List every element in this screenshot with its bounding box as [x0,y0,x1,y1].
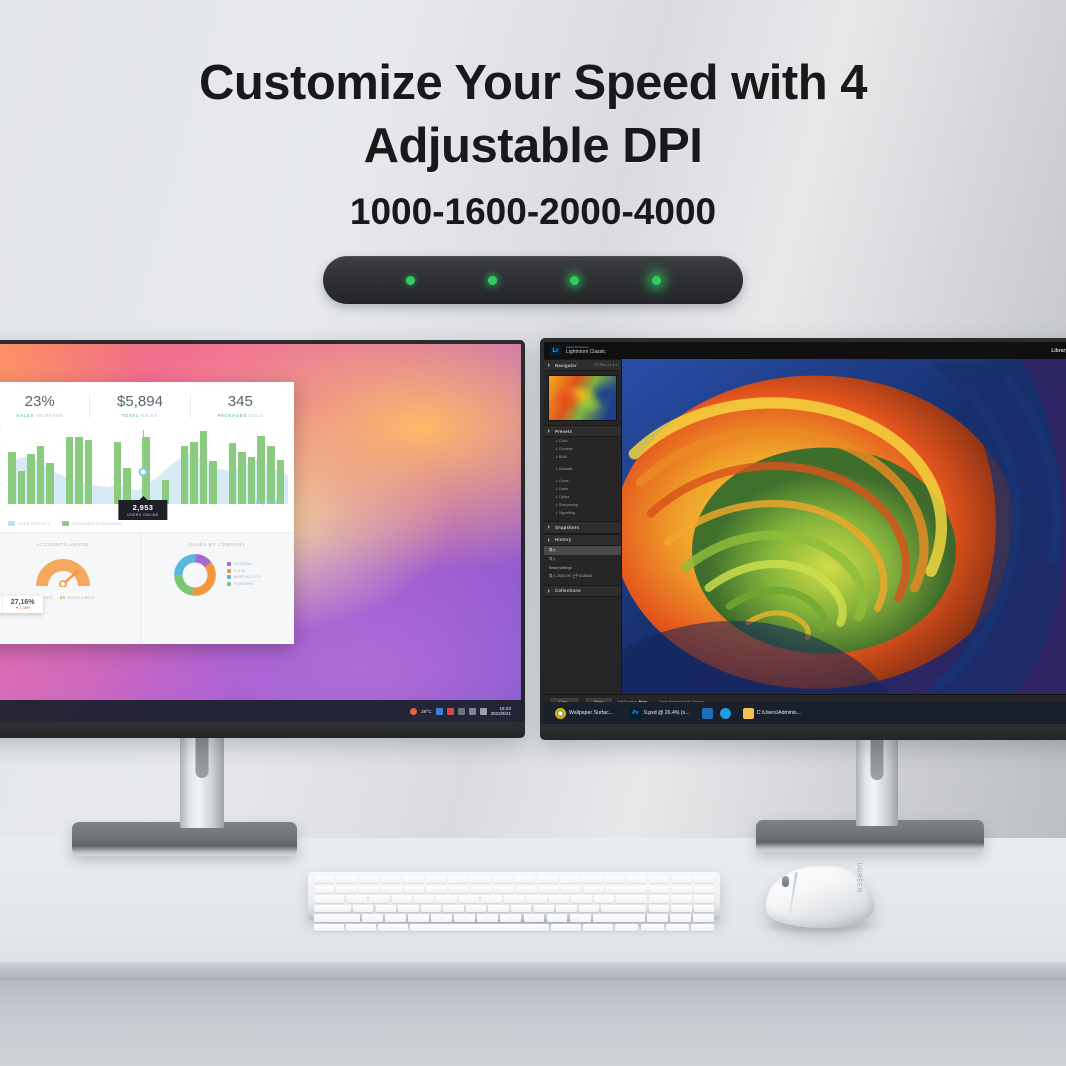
keyboard-key[interactable] [571,895,591,902]
taskbar-item-chrome[interactable]: Wallpaper Surfac... [550,706,618,721]
legend-swatch [8,521,15,526]
keyboard-key[interactable] [601,905,646,912]
keyboard-key[interactable] [426,876,446,883]
chart-bar [238,452,246,504]
tray-icon[interactable] [447,708,454,715]
history-row[interactable]: Reset Settings [544,564,621,572]
keyboard-row [314,924,714,931]
navigator-title: Navigator [555,363,577,368]
navigator-thumbnail[interactable] [548,375,617,421]
keyboard-key[interactable] [524,914,545,921]
keyboard-key[interactable] [353,905,373,912]
weather-icon [410,708,417,715]
taskbar-clock[interactable]: 16:33 2022/9/21 [491,706,511,717]
chart-bar [27,454,35,504]
history-panel-header[interactable]: History [544,534,621,546]
keyboard-key[interactable] [672,876,692,883]
lightroom-photo-canvas[interactable] [622,359,1066,694]
presets-title: Presets [555,429,572,434]
kpi-label: SALES INCREASE [0,413,89,418]
keyboard-key[interactable] [477,914,498,921]
keyboard-key[interactable] [694,876,714,883]
accounts-usage-gauge [32,555,94,587]
legend-item: SHOGUN [227,562,262,566]
keyboard-key[interactable] [547,914,568,921]
chart-bar [248,457,256,504]
tooltip-label: USERS ONLINE [127,513,158,517]
vertical-ergonomic-mouse[interactable]: UGREEN [766,866,874,928]
dpi-led-1600 [488,276,497,285]
activity-chart: 50 40 30 20 10 July 2013 [2,428,284,520]
keyboard-key[interactable] [362,914,383,921]
dashboard-window[interactable]: ⌂ ♟ ⏻ DASHBOARD ACCOUNTS COMPANIES ACCOU… [0,382,294,644]
keyboard-key[interactable] [431,914,452,921]
keyboard-key[interactable] [404,886,424,893]
keyboard-key[interactable] [459,895,479,902]
chart-bar [66,437,74,504]
keyboard-key[interactable] [347,895,367,902]
dpi-led-2000 [570,276,579,285]
taskbar-item-photoshop[interactable]: Ps 9.psd @ 26.4% (s... [625,706,695,721]
keyboard-key[interactable] [604,876,624,883]
chevron-right-icon [548,429,552,433]
keyboard-key[interactable] [649,905,669,912]
kpi-value: 23% [0,394,89,409]
legend-item: FORWARD [227,582,262,586]
keyboard-key[interactable] [606,886,647,893]
accounts-usage-panel: ACCOUNTS USAGE 30 USED 20 AVA [0,533,140,644]
keyboard-key[interactable] [560,876,580,883]
keyboard-key[interactable] [694,886,714,893]
kpi-label: TOTAL SALES [90,413,189,418]
kpi-value: $5,894 [90,394,189,409]
app-title-label: Lightroom Classic [566,349,606,355]
lightroom-icon[interactable] [702,708,713,719]
y-tick: 40 [0,446,1,450]
stat-down-value: 27,16% [11,599,35,606]
keyboard-key[interactable] [392,895,412,902]
keyboard-key[interactable] [691,924,714,931]
chart-bar [200,431,208,504]
headline-line-1: Customize Your Speed with 4 [0,52,1066,115]
chart-bar [46,463,54,504]
keyboard-key[interactable] [516,886,536,893]
keyboard-key[interactable] [671,905,691,912]
module-picker[interactable]: Library | De [1051,348,1066,354]
lightroom-logo-icon: Lr [550,345,561,356]
keyboard-key[interactable] [583,924,613,931]
sales-by-company-title: SALES BY COMPANY [145,542,291,547]
keyboard-row [314,876,714,883]
chart-marker-dot[interactable] [139,468,148,477]
chart-bar [229,443,237,504]
monitor-left: Dashboard February March April [0,340,525,738]
photoshop-icon: Ps [630,708,641,719]
keyboard-key[interactable] [584,886,604,893]
dpi-subheadline: 1000-1600-2000-4000 [0,191,1066,233]
keyboard-row [314,914,714,921]
legend-swatch [227,582,231,586]
keyboard-key[interactable] [694,905,714,912]
chart-legend: USER ACTIVITY PACKAGES PURCHASED [0,520,294,532]
folder-icon [743,708,754,719]
keyboard-key[interactable] [615,924,638,931]
preset-group[interactable]: Grain [544,485,621,493]
keyboard-key[interactable] [314,905,351,912]
keyboard-key[interactable] [466,905,486,912]
keyboard-row [314,886,714,893]
keyboard-key[interactable] [647,914,668,921]
lightroom-titlebar: Lr Adobe Photoshop Lightroom Classic Lib… [544,342,1066,359]
kpi-total-sales: $5,894 TOTAL SALES [90,394,190,418]
y-tick: 20 [0,482,1,486]
kpi-sales-increase: 23% SALES INCREASE [0,394,90,418]
keyboard-key[interactable] [314,924,344,931]
headline-line-2: Adjustable DPI [0,115,1066,178]
stat-chips: 72,84% ▲ 3,55% 27,16% ▼ 1,38% [0,596,43,613]
taskbar-item-label: Wallpaper Surfac... [569,710,613,716]
y-tick: 10 [0,500,1,504]
volume-icon[interactable] [480,708,487,715]
edge-icon[interactable] [720,708,731,719]
donut-chart [173,553,217,597]
keyboard-key[interactable] [488,905,508,912]
keyboard-key[interactable] [671,886,691,893]
chart-tooltip: 2,953 USERS ONLINE [118,500,167,520]
monitor-left-bezel: Dashboard February March April [0,340,525,738]
collections-title: Collections [555,588,581,593]
legend-swatch [62,521,69,526]
legend-swatch [227,575,231,579]
keyboard-key[interactable] [627,876,647,883]
taskbar-item-explorer[interactable]: C:\Users\Adminis... [738,706,806,721]
taskbar-left-monitor[interactable]: C:\Users\Adminis... 29°C 16:33 2022/9/21 [0,700,521,722]
history-row[interactable]: 导入 2021/7/5 上午10:28:02 [544,572,621,581]
keyboard-key[interactable] [421,905,441,912]
chevron-right-icon [548,538,552,542]
keyboard-key[interactable] [556,905,576,912]
keyboard-key[interactable] [579,905,599,912]
history-row[interactable]: 导入 [544,555,621,564]
keyboard-key[interactable] [443,905,463,912]
keyboard-key[interactable] [594,895,614,902]
keyboard-key[interactable] [314,886,334,893]
keyboard-key[interactable] [454,914,475,921]
preset-group[interactable]: B&W [544,453,621,461]
preset-group[interactable]: Optics [544,493,621,501]
chevron-right-icon [548,363,552,367]
taskbar-right-monitor[interactable]: Wallpaper Surfac... Ps 9.psd @ 26.4% (s.… [544,702,1066,724]
network-icon[interactable] [469,708,476,715]
preset-group[interactable]: Defaults [544,465,621,473]
lightroom-app: Lr Adobe Photoshop Lightroom Classic Lib… [544,342,1066,724]
legend-item-user-activity: USER ACTIVITY [8,521,50,526]
keyboard-key[interactable] [481,895,501,902]
tray-icon[interactable] [436,708,443,715]
keyboard-key[interactable] [534,905,554,912]
mouse-brand-label: UGREEN [855,863,861,893]
accounts-usage-title: ACCOUNTS USAGE [0,542,136,547]
dashboard-main: 23% SALES INCREASE $5,894 TOTAL SALES 34… [0,382,294,644]
chart-month-label: July 2013 [254,499,282,506]
keyboard-key[interactable] [470,876,490,883]
kpi-row: 23% SALES INCREASE $5,894 TOTAL SALES 34… [0,382,294,426]
donut-legend: SHOGUN H & M MARTIAL CITY FORWARD [227,562,262,588]
chart-bar [277,460,285,504]
keyboard-key[interactable] [616,895,646,902]
keyboard-key[interactable] [561,886,581,893]
keyboard-key[interactable] [369,895,389,902]
keyboard-key[interactable] [408,914,429,921]
legend-label: USER ACTIVITY [18,522,50,526]
lightroom-app-name: Adobe Photoshop Lightroom Classic [566,346,606,355]
chart-bar [37,446,45,504]
keyboard-key[interactable] [359,876,379,883]
chart-bar [85,440,93,504]
tray-icon[interactable] [458,708,465,715]
keyboard-key[interactable] [403,876,423,883]
chrome-icon [555,708,566,719]
keyboard-key[interactable] [494,886,514,893]
keyboard-key[interactable] [336,876,356,883]
legend-item: MARTIAL CITY [227,575,262,579]
y-tick: 30 [0,464,1,468]
dashboard-bottom-panels: ACCOUNTS USAGE 30 USED 20 AVA [0,532,294,644]
weather-temp: 29°C [421,709,431,714]
keyboard-key[interactable] [511,905,531,912]
keyboard-key[interactable] [426,886,446,893]
chart-bar [257,436,265,504]
keyboard-key[interactable] [448,876,468,883]
chart-bar [8,452,16,504]
dpi-led-1000 [406,276,415,285]
stat-down-delta: ▼ 1,38% [11,606,35,610]
legend-label: H & M [234,569,245,573]
keyboard-key[interactable] [537,876,557,883]
keyboard-key[interactable] [493,876,513,883]
mouse-scroll-wheel[interactable] [782,876,789,887]
keyboard-key[interactable] [582,876,602,883]
chart-bar [190,442,198,504]
sales-by-company-panel: SALES BY COMPANY SHOGUN [140,533,295,644]
keyboard-key[interactable] [378,924,408,931]
dpi-led-4000 [652,276,661,285]
keyboard-key[interactable] [410,924,548,931]
history-title: History [555,537,572,542]
tooltip-value: 2,953 [127,503,158,512]
desk-front-panel [0,980,1066,1066]
legend-item: H & M [227,569,262,573]
keyboard-key[interactable] [549,895,569,902]
presets-panel-header[interactable]: Presets [544,425,621,437]
chart-y-axis: 50 40 30 20 10 [0,428,1,504]
keyboard-key[interactable] [398,905,418,912]
taskbar-item-label: C:\Users\Adminis... [757,710,801,716]
keyboard-key[interactable] [641,924,664,931]
keyboard-key[interactable] [385,914,406,921]
history-row[interactable]: 导入 [544,546,621,555]
keyboard-row [314,895,714,902]
chart-bar [267,446,275,504]
snapshots-panel-header[interactable]: Snapshots [544,521,621,533]
lightroom-body: Navigator FIT FILL 1:1 3:1 Presets Color… [544,359,1066,694]
keyboard-key[interactable] [500,914,521,921]
keyboard-key[interactable] [436,895,456,902]
keyboard-key[interactable] [526,895,546,902]
keyboard-key[interactable] [381,876,401,883]
keyboard-key[interactable] [314,876,334,883]
keyboard-key[interactable] [336,886,356,893]
terrain-photo [622,359,1066,694]
legend-label: SHOGUN [234,562,251,566]
keyboard-key[interactable] [670,914,691,921]
keyboard-key[interactable] [693,914,714,921]
chart-bar [18,471,26,504]
keyboard-key[interactable] [449,886,469,893]
preset-group[interactable]: Color [544,437,621,445]
kpi-label: PACKAGES SOLD [191,413,290,418]
keyboard-key[interactable] [551,924,581,931]
taskbar-item-label: 9.psd @ 26.4% (s... [644,710,690,716]
dpi-indicator-bar [323,256,743,304]
y-tick: 50 [0,428,1,432]
monitor-right-screen[interactable]: Lr Adobe Photoshop Lightroom Classic Lib… [544,342,1066,724]
keyboard-key[interactable] [649,876,669,883]
legend-label: MARTIAL CITY [234,575,262,579]
preset-group[interactable]: Sharpening [544,501,621,509]
donut-row: SHOGUN H & M MARTIAL CITY FORWARD [145,553,291,597]
keyboard-key[interactable] [515,876,535,883]
keyboard-key[interactable] [314,914,360,921]
keyboard-key[interactable] [314,895,344,902]
stat-chip-down: 27,16% ▼ 1,38% [3,596,43,613]
monitor-left-screen[interactable]: Dashboard February March April [0,344,521,722]
keyboard-key[interactable] [649,895,669,902]
kpi-value: 345 [191,394,290,409]
keyboard-key[interactable] [694,895,714,902]
lightroom-left-panel[interactable]: Navigator FIT FILL 1:1 3:1 Presets Color… [544,359,622,694]
keyboard-key[interactable] [539,886,559,893]
clock-date: 2022/9/21 [491,711,511,717]
compact-wireless-keyboard[interactable] [308,872,720,920]
promo-heading-block: Customize Your Speed with 4 Adjustable D… [0,52,1066,233]
preset-group[interactable]: Curve [544,477,621,485]
chevron-right-icon [548,589,552,593]
preset-group[interactable]: Creative [544,445,621,453]
kpi-packages-sold: 345 PACKAGES SOLD [191,394,290,418]
keyboard-key[interactable] [359,886,379,893]
keyboard-row [314,905,714,912]
keyboard-key[interactable] [346,924,376,931]
chevron-right-icon [548,525,552,529]
legend-label: FORWARD [234,582,254,586]
legend-swatch [227,562,231,566]
chart-bar [181,446,189,504]
legend-label: PACKAGES PURCHASED [72,522,122,526]
keyboard-key[interactable] [414,895,434,902]
keyboard-key[interactable] [504,895,524,902]
navigator-zoom-options[interactable]: FIT FILL 1:1 3:1 [594,363,617,367]
module-library[interactable]: Library [1051,348,1066,354]
keyboard-key[interactable] [376,905,396,912]
keyboard-key[interactable] [570,914,591,921]
collections-panel-header[interactable]: Collections [544,585,621,597]
monitor-right-bezel: Lr Adobe Photoshop Lightroom Classic Lib… [540,338,1066,740]
legend-swatch [227,569,231,573]
chart-bar [114,442,122,504]
monitor-right: Lr Adobe Photoshop Lightroom Classic Lib… [540,338,1066,740]
legend-item-packages-purchased: PACKAGES PURCHASED [62,521,122,526]
keyboard-key[interactable] [471,886,491,893]
chart-bar [75,437,83,504]
chart-bar [123,468,131,504]
system-tray[interactable]: 29°C 16:33 2022/9/21 [410,706,515,717]
preset-group[interactable]: Vignetting [544,509,621,517]
snapshots-title: Snapshots [555,525,579,530]
navigator-panel-header[interactable]: Navigator FIT FILL 1:1 3:1 [544,359,621,371]
chart-bar [209,461,217,504]
keyboard-key[interactable] [593,914,645,921]
keyboard-key[interactable] [381,886,401,893]
keyboard-key[interactable] [649,886,669,893]
desk-edge [0,962,1066,980]
keyboard-key[interactable] [671,895,691,902]
keyboard-key[interactable] [666,924,689,931]
